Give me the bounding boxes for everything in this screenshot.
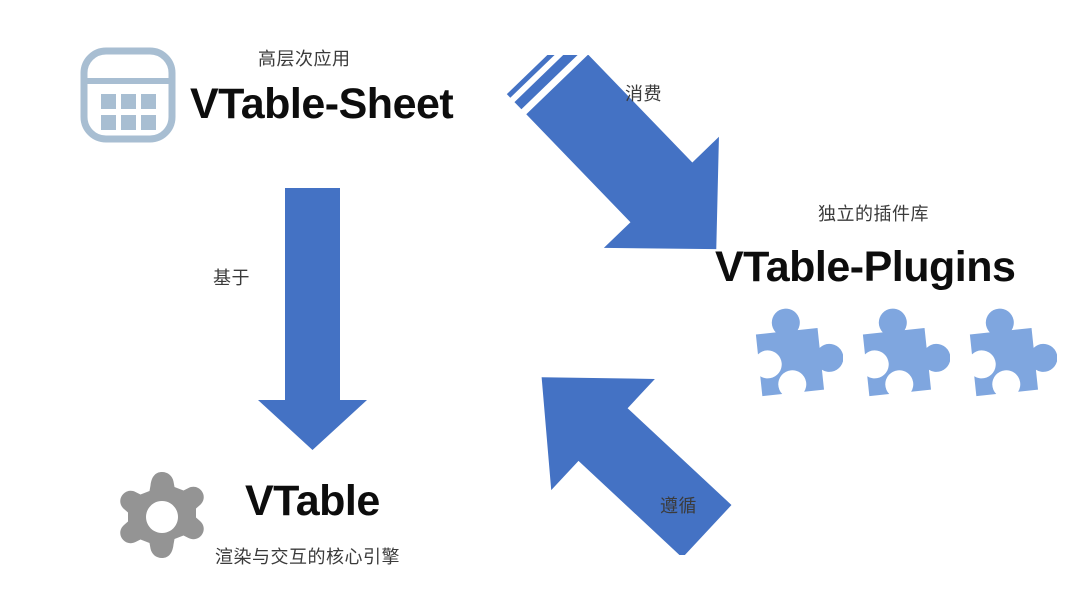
down-left-arrow-icon (495, 355, 755, 555)
puzzle-piece-3 (952, 303, 1057, 403)
puzzle-piece-icon (952, 303, 1057, 403)
arrow-follows-label: 遵循 (660, 492, 697, 518)
down-arrow-icon (255, 188, 370, 450)
plugins-caption: 独立的插件库 (818, 200, 929, 226)
puzzle-piece-icon (845, 303, 950, 403)
sheet-caption: 高层次应用 (258, 45, 351, 71)
sheet-title: VTable-Sheet (190, 80, 453, 129)
core-title: VTable (245, 477, 380, 526)
gear-icon (113, 468, 211, 566)
diagram-canvas: 消费 基于 遵循 高层次应用 VTable-Sheet 独立的插件库 VTa (0, 0, 1080, 608)
arrow-based-on-label: 基于 (213, 264, 250, 290)
sheet-icon-wrapper (78, 45, 178, 145)
puzzle-piece-1 (738, 303, 843, 403)
plugins-title: VTable-Plugins (715, 243, 1015, 292)
gear-icon-wrapper (113, 468, 211, 566)
arrow-consume-label: 消费 (625, 80, 662, 106)
arrow-follows (495, 355, 755, 555)
puzzle-piece-2 (845, 303, 950, 403)
puzzle-piece-icon (738, 303, 843, 403)
core-subcaption: 渲染与交互的核心引擎 (215, 543, 400, 569)
sheet-grid-icon (78, 45, 178, 145)
arrow-based-on (255, 188, 370, 450)
